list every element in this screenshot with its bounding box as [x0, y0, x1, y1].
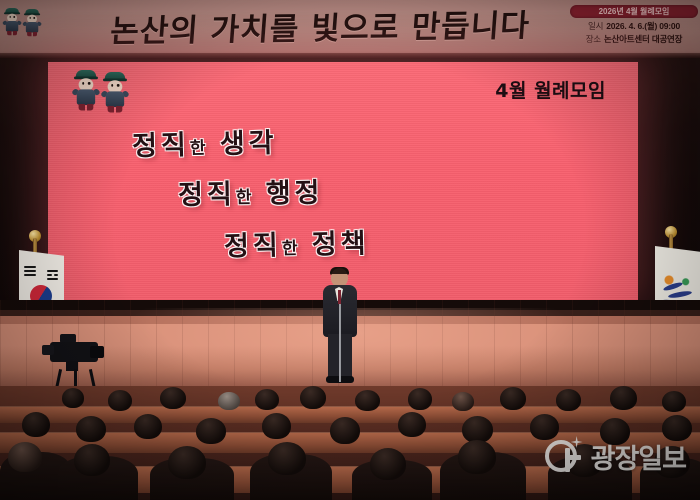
- calligraphy-line-2-b: 한: [236, 188, 253, 208]
- calligraphy-line-2: 정직한 행정: [178, 165, 638, 212]
- audience-head: [458, 440, 496, 474]
- calligraphy-line-1-b: 한: [190, 138, 207, 158]
- calligraphy-line-3-c: 정책: [311, 228, 369, 260]
- calligraphy-line-2-a: 정직: [178, 179, 236, 211]
- banner-title: 논산의 가치를 빛으로 만듭니다: [108, 1, 532, 57]
- audience-head: [62, 388, 84, 408]
- calligraphy-line-3: 정직한 정책: [224, 216, 638, 264]
- press-watermark: 광장일보: [545, 436, 686, 476]
- audience-head: [268, 442, 306, 475]
- event-place-line: 장소논산아트센터 대공연장: [570, 34, 698, 44]
- place-value: 논산아트센터 대공연장: [604, 34, 682, 44]
- calligraphy-line-1-c: 생각: [219, 128, 277, 160]
- audience-head: [500, 387, 526, 410]
- audience-head: [330, 417, 360, 444]
- speaker-tie: [338, 290, 342, 304]
- audience-head: [300, 386, 326, 409]
- datetime-label: 일시: [588, 21, 603, 31]
- audience-head: [196, 418, 226, 444]
- calligraphy-line-3-a: 정직: [224, 230, 282, 262]
- audience-head: [556, 389, 581, 411]
- calligraphy-line-1-a: 정직: [132, 130, 190, 162]
- audience-head: [398, 412, 426, 437]
- calligraphy-line-3-b: 한: [282, 239, 299, 259]
- audience-head: [355, 390, 380, 411]
- speaker-person-icon: [316, 268, 364, 386]
- calligraphy-line-2-c: 행정: [266, 177, 324, 209]
- camera-viewfinder: [42, 345, 54, 355]
- event-banner: 논산의 가치를 빛으로 만듭니다 2026년 4월 월례모임 일시2026. 4…: [0, 0, 700, 58]
- audience-head: [452, 392, 474, 411]
- audience-head: [160, 387, 186, 409]
- banner-info-block: 2026년 4월 월례모임 일시2026. 4. 6.(월) 09:00 장소논…: [570, 5, 698, 57]
- audience-head: [218, 392, 240, 410]
- gwangjang-ilbo-logo-icon: [545, 436, 585, 476]
- screen-heading: 4월 월례모임: [495, 76, 606, 103]
- event-pill-badge: 2026년 4월 월례모임: [570, 5, 698, 18]
- audience-head: [462, 416, 493, 443]
- audience-head: [262, 413, 291, 439]
- audience-head: [662, 391, 686, 412]
- watermark-text: 광장일보: [591, 437, 686, 476]
- audience-head: [74, 444, 110, 476]
- calligraphy-block: 정직한 생각 정직한 행정 정직한 정책: [48, 118, 638, 259]
- microphone-stand-icon: [339, 304, 341, 382]
- audience-head: [76, 416, 106, 442]
- datetime-value: 2026. 4. 6.(월) 09:00: [606, 21, 680, 31]
- audience-head: [255, 389, 279, 410]
- event-datetime-line: 일시2026. 4. 6.(월) 09:00: [570, 21, 698, 31]
- led-presentation-screen: 4월 월례모임 정직한 생각 정직한 행정 정직한 정책: [48, 62, 638, 300]
- audience-head: [8, 442, 42, 472]
- audience-head: [134, 414, 162, 439]
- audience-head: [370, 448, 406, 480]
- audience-head: [108, 390, 132, 411]
- audience-head: [408, 388, 432, 410]
- calligraphy-line-1: 정직한 생각: [132, 112, 638, 163]
- place-label: 장소: [586, 34, 601, 44]
- photograph-canvas: 논산의 가치를 빛으로 만듭니다 2026년 4월 월례모임 일시2026. 4…: [0, 0, 700, 500]
- camera-lens: [90, 346, 104, 358]
- screen-mascot-icon: [74, 70, 138, 122]
- audience-head: [610, 386, 637, 410]
- banner-mascot-icon: [4, 8, 64, 52]
- audience-head: [168, 446, 206, 479]
- audience-head: [22, 412, 50, 437]
